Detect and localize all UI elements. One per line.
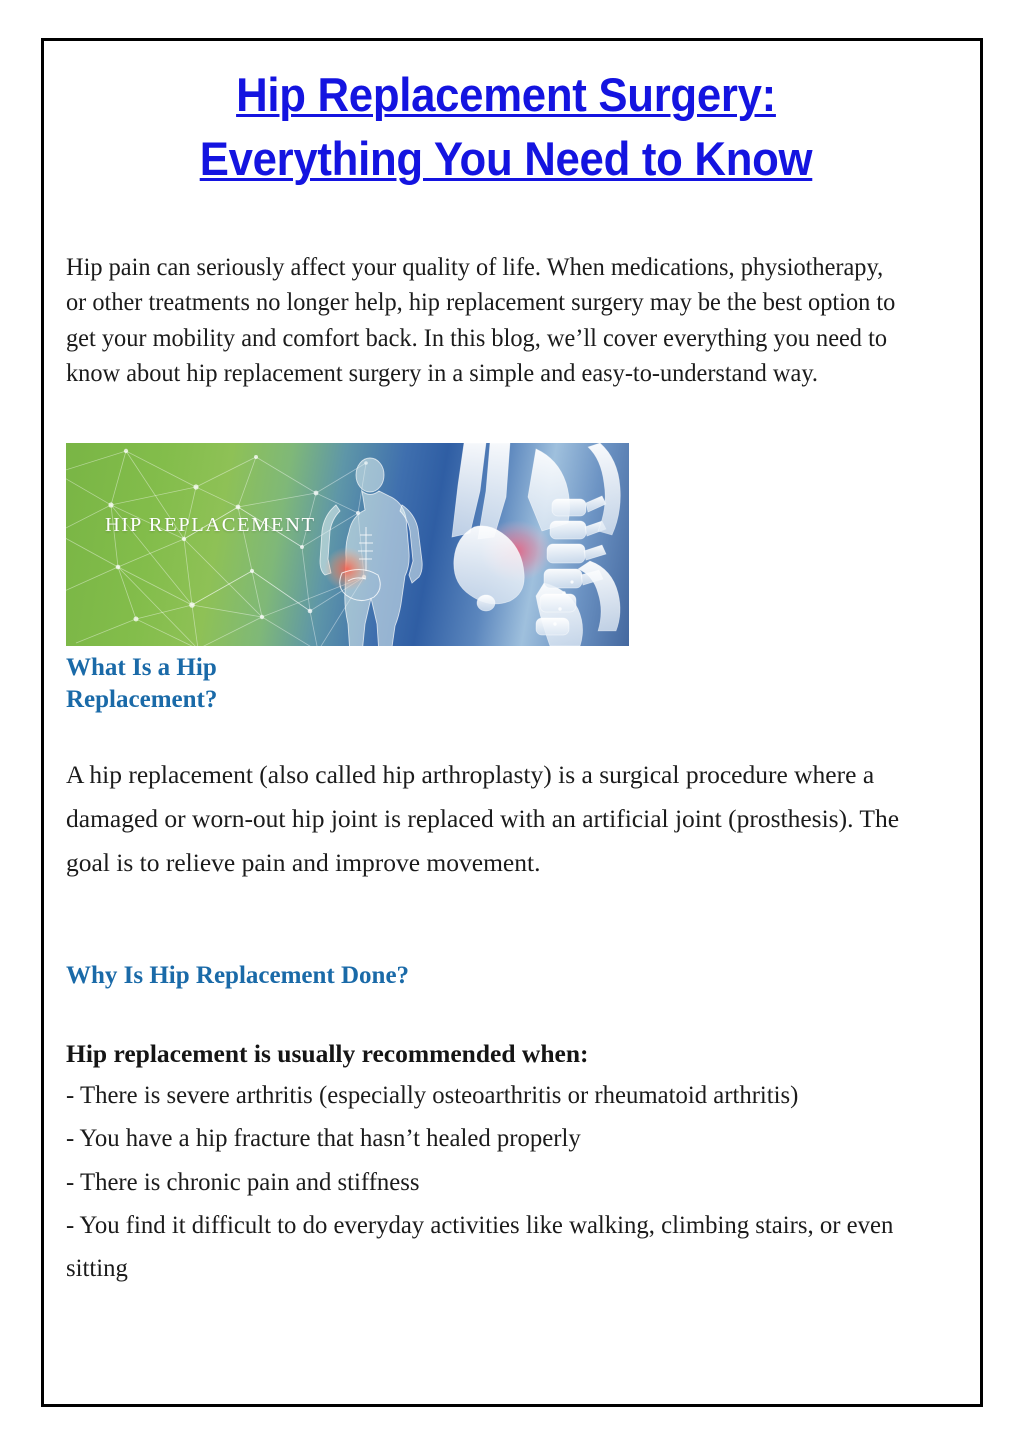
section-heading-why-is-hip-replacement-done: Why Is Hip Replacement Done? xyxy=(66,960,946,993)
list-item: - You find it difficult to do everyday a… xyxy=(66,1203,920,1290)
why-section: Why Is Hip Replacement Done? Hip replace… xyxy=(66,886,946,1290)
page-title-line-1: Hip Replacement Surgery: xyxy=(110,63,902,127)
intro-paragraph: Hip pain can seriously affect your quali… xyxy=(66,191,906,391)
recommendation-list: - There is severe arthritis (especially … xyxy=(66,1073,946,1290)
page-content: Hip Replacement Surgery: Everything You … xyxy=(66,63,946,1290)
page-title: Hip Replacement Surgery: Everything You … xyxy=(97,63,915,191)
page-title-line-2: Everything You Need to Know xyxy=(110,127,902,191)
list-item: - There is severe arthritis (especially … xyxy=(66,1073,920,1116)
page-border-frame: Hip Replacement Surgery: Everything You … xyxy=(41,38,983,1407)
recommendation-lead-text: Hip replacement is usually recommended w… xyxy=(66,992,946,1073)
what-is-hip-replacement-paragraph: A hip replacement (also called hip arthr… xyxy=(66,717,946,886)
banner-caption: HIP REPLACEMENT xyxy=(105,514,316,537)
list-item: - You have a hip fracture that hasn’t he… xyxy=(66,1116,920,1159)
hip-replacement-banner-image: HIP REPLACEMENT xyxy=(66,443,629,646)
list-item: - There is chronic pain and stiffness xyxy=(66,1160,920,1203)
anatomy-illustration-icon xyxy=(66,443,629,646)
what-is-section: HIP REPLACEMENT What Is a Hip Replacemen… xyxy=(66,391,946,886)
